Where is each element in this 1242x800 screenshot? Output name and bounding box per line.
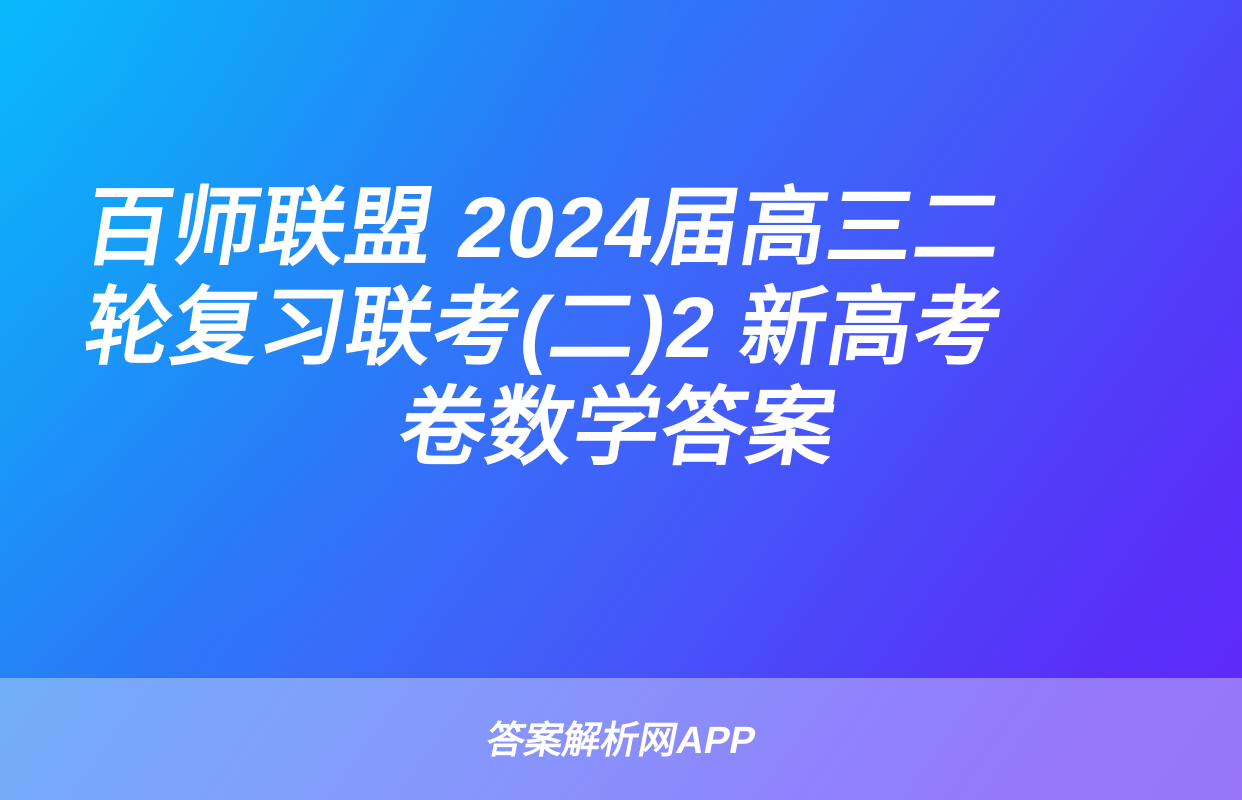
page-title: 百师联盟 2024届高三二 轮复习联考(二)2 新高考 卷数学答案 [0,178,1242,478]
title-line-3: 卷数学答案 [72,378,1186,478]
watermark-band: 答案解析网APP [0,678,1242,800]
app-watermark-label: 答案解析网APP [483,722,759,760]
title-line-2: 轮复习联考(二)2 新高考 [72,278,1186,378]
title-line-1: 百师联盟 2024届高三二 [72,178,1186,278]
promo-banner: 百师联盟 2024届高三二 轮复习联考(二)2 新高考 卷数学答案 答案解析网A… [0,0,1242,800]
